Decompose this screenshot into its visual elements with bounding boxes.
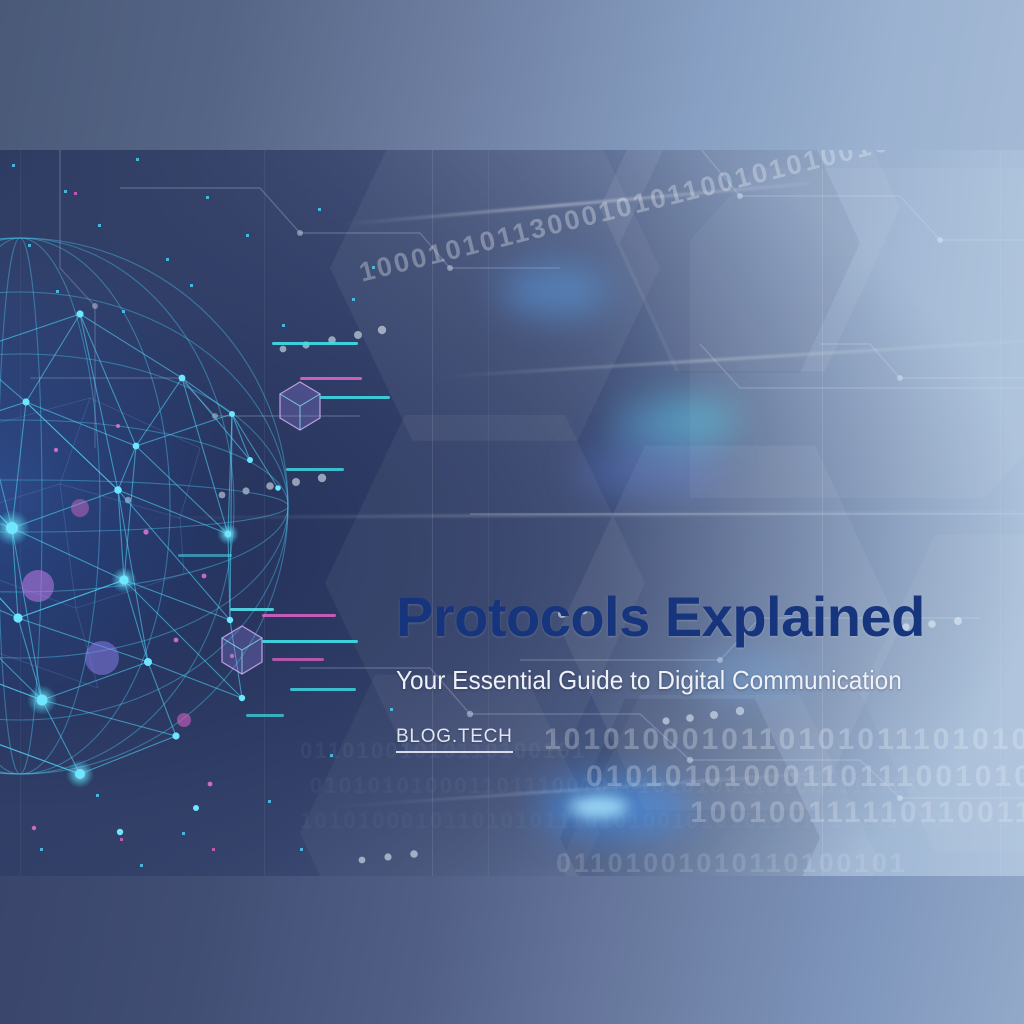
binary-stream-icon-row-4: 01101001010110100101 — [556, 848, 907, 878]
banner-canvas: 1000101011300010101100101010010101010001… — [0, 0, 1024, 1024]
frame-band-top — [0, 0, 1024, 150]
brand-link[interactable]: BLOG.TECH — [396, 726, 513, 753]
hero-artwork: 1000101011300010101100101010010101010001… — [0, 148, 1024, 878]
hero-text-block: Protocols Explained Your Essential Guide… — [396, 588, 996, 753]
lens-flare-icon-center — [576, 448, 726, 494]
lens-flare-icon-top — [500, 268, 610, 314]
page-title: Protocols Explained — [396, 588, 996, 647]
page-subtitle: Your Essential Guide to Digital Communic… — [396, 665, 960, 696]
particle-field-icon — [0, 148, 420, 878]
lens-flare-icon-teal — [660, 403, 740, 433]
frame-band-bottom — [0, 876, 1024, 1024]
